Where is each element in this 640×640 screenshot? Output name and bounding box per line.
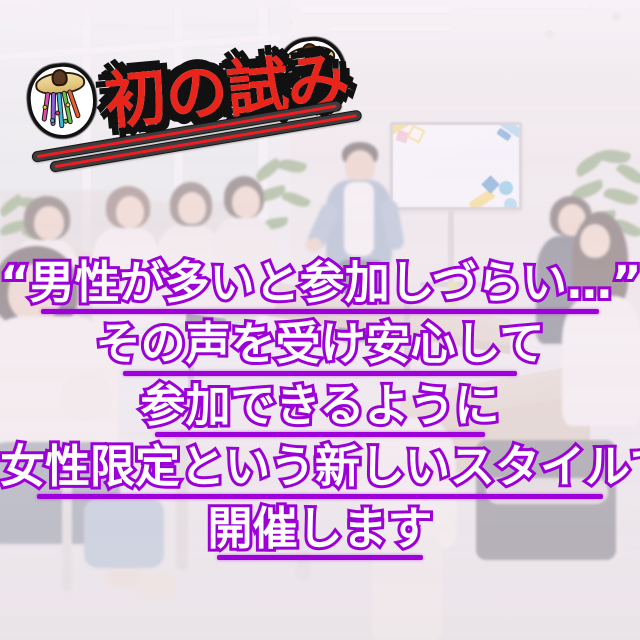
promo-banner: 初の試み “男性が多いと参加しづらい…” その声を受け安心して 参加できるように… — [0, 0, 640, 640]
message-line: 参加できるように — [0, 381, 640, 437]
message-line-text: “男性が多いと参加しづらい…” — [0, 258, 640, 308]
message-line-text: 開催します — [207, 504, 432, 554]
message-line-text: 女性限定という新しいスタイルで — [0, 442, 640, 492]
message-underline — [155, 432, 485, 437]
message-underline — [217, 555, 423, 560]
message-line: その声を受け安心して — [0, 319, 640, 375]
kusudama-icon — [31, 67, 93, 135]
message-line: 開催します — [0, 504, 640, 560]
message-line: “男性が多いと参加しづらい…” — [0, 258, 640, 314]
message-underline — [123, 371, 517, 376]
message-underline — [41, 309, 599, 314]
message-line-text: 参加できるように — [140, 381, 499, 431]
message-line-text: その声を受け安心して — [96, 319, 545, 369]
message-block: “男性が多いと参加しづらい…” その声を受け安心して 参加できるように 女性限定… — [0, 258, 640, 565]
message-underline — [37, 494, 603, 499]
message-line: 女性限定という新しいスタイルで — [0, 442, 640, 498]
